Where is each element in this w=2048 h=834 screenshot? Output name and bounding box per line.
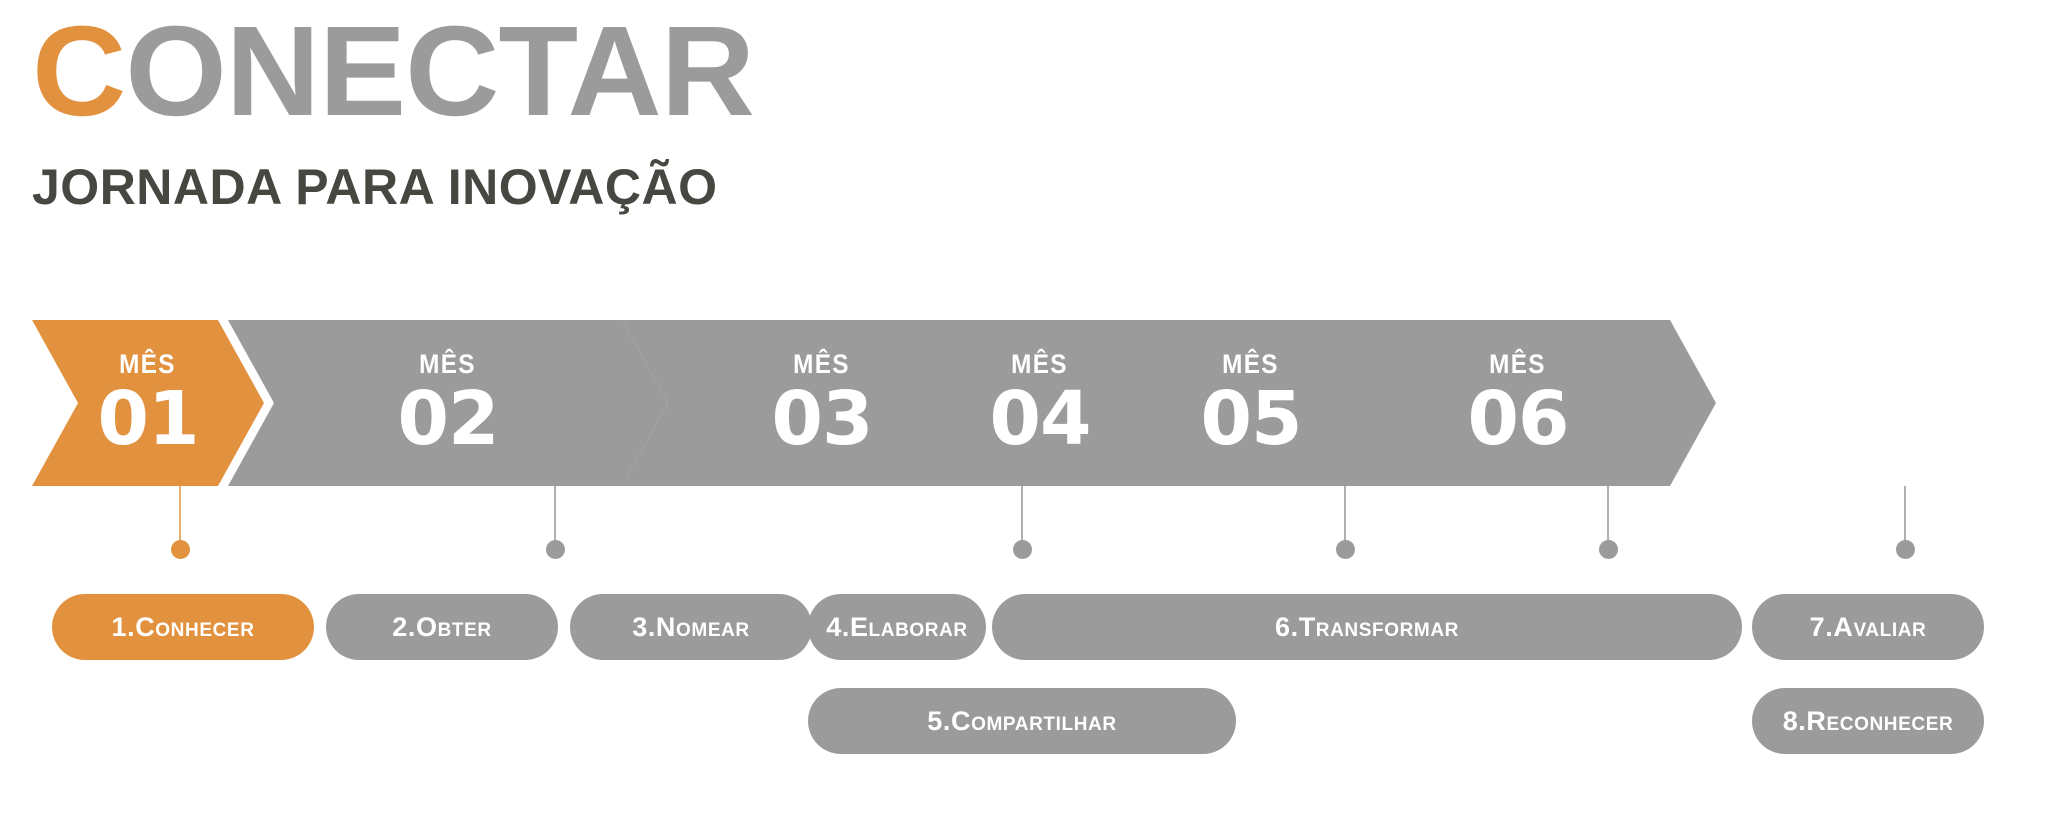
page-title-accent-letter: C [32, 0, 125, 143]
connector-line [1021, 486, 1023, 546]
connector-dot-icon [546, 540, 565, 559]
month-number: 06 [1468, 382, 1569, 456]
connector-5 [1588, 486, 1628, 566]
month-chevron-content: MÊS04 [958, 320, 1122, 486]
step-pill-label: 3.Nomear [632, 614, 750, 641]
connector-2 [535, 486, 575, 566]
connector-dot-icon [1336, 540, 1355, 559]
month-word-label: MÊS [120, 351, 177, 378]
month-number: 01 [98, 382, 199, 456]
month-chevron-content: MÊS06 [1366, 320, 1670, 486]
step-pill-label: 4.Elaborar [826, 614, 968, 641]
connector-dot-icon [1599, 540, 1618, 559]
month-number: 02 [398, 382, 499, 456]
page-subtitle: JORNADA PARA INOVAÇÃO [32, 136, 1032, 212]
connector-dot-icon [1896, 540, 1915, 559]
step-pill-label: 1.Conhecer [111, 614, 254, 641]
month-chevron-content: MÊS01 [78, 320, 218, 486]
month-chevron-06[interactable]: MÊS06 [1320, 320, 1716, 486]
connector-4 [1325, 486, 1365, 566]
month-word-label: MÊS [1490, 351, 1547, 378]
month-chevron-02[interactable]: MÊS02 [228, 320, 668, 486]
step-pill-6[interactable]: 6.Transformar [992, 594, 1742, 660]
step-pill-8[interactable]: 8.Reconhecer [1752, 688, 1984, 754]
month-word-label: MÊS [1012, 351, 1069, 378]
month-chevron-01[interactable]: MÊS01 [32, 320, 264, 486]
connector-1 [160, 486, 200, 566]
month-word-label: MÊS [420, 351, 477, 378]
step-pill-3[interactable]: 3.Nomear [570, 594, 812, 660]
month-number: 03 [772, 382, 873, 456]
step-pill-2[interactable]: 2.Obter [326, 594, 558, 660]
month-number: 04 [990, 382, 1091, 456]
step-pill-4[interactable]: 4.Elaborar [808, 594, 986, 660]
step-pill-label: 6.Transformar [1275, 614, 1459, 641]
connector-6 [1885, 486, 1925, 566]
page-title-rest: ONECTAR [125, 0, 754, 143]
connector-line [1607, 486, 1609, 546]
step-pill-label: 5.Compartilhar [927, 708, 1116, 735]
title-block: CONECTAR JORNADA PARA INOVAÇÃO [32, 8, 1032, 212]
connector-3 [1002, 486, 1042, 566]
connector-dot-icon [1013, 540, 1032, 559]
connector-dot-icon [171, 540, 190, 559]
infographic-canvas: CONECTAR JORNADA PARA INOVAÇÃO MÊS01MÊS0… [0, 0, 2048, 834]
connector-line [179, 486, 181, 546]
step-pill-label: 8.Reconhecer [1783, 708, 1954, 735]
step-pill-5[interactable]: 5.Compartilhar [808, 688, 1236, 754]
step-pill-label: 7.Avaliar [1810, 614, 1927, 641]
month-word-label: MÊS [794, 351, 851, 378]
connector-line [554, 486, 556, 546]
month-word-label: MÊS [1223, 351, 1280, 378]
page-title: CONECTAR [32, 8, 1052, 136]
step-pill-1[interactable]: 1.Conhecer [52, 594, 314, 660]
connector-line [1904, 486, 1906, 546]
step-pill-7[interactable]: 7.Avaliar [1752, 594, 1984, 660]
step-pill-label: 2.Obter [392, 614, 491, 641]
month-number: 05 [1201, 382, 1302, 456]
connector-line [1344, 486, 1346, 546]
months-timeline: MÊS01MÊS02MÊS03MÊS04MÊS05MÊS06 [0, 320, 2048, 486]
month-chevron-content: MÊS05 [1164, 320, 1338, 486]
month-chevron-content: MÊS02 [274, 320, 622, 486]
